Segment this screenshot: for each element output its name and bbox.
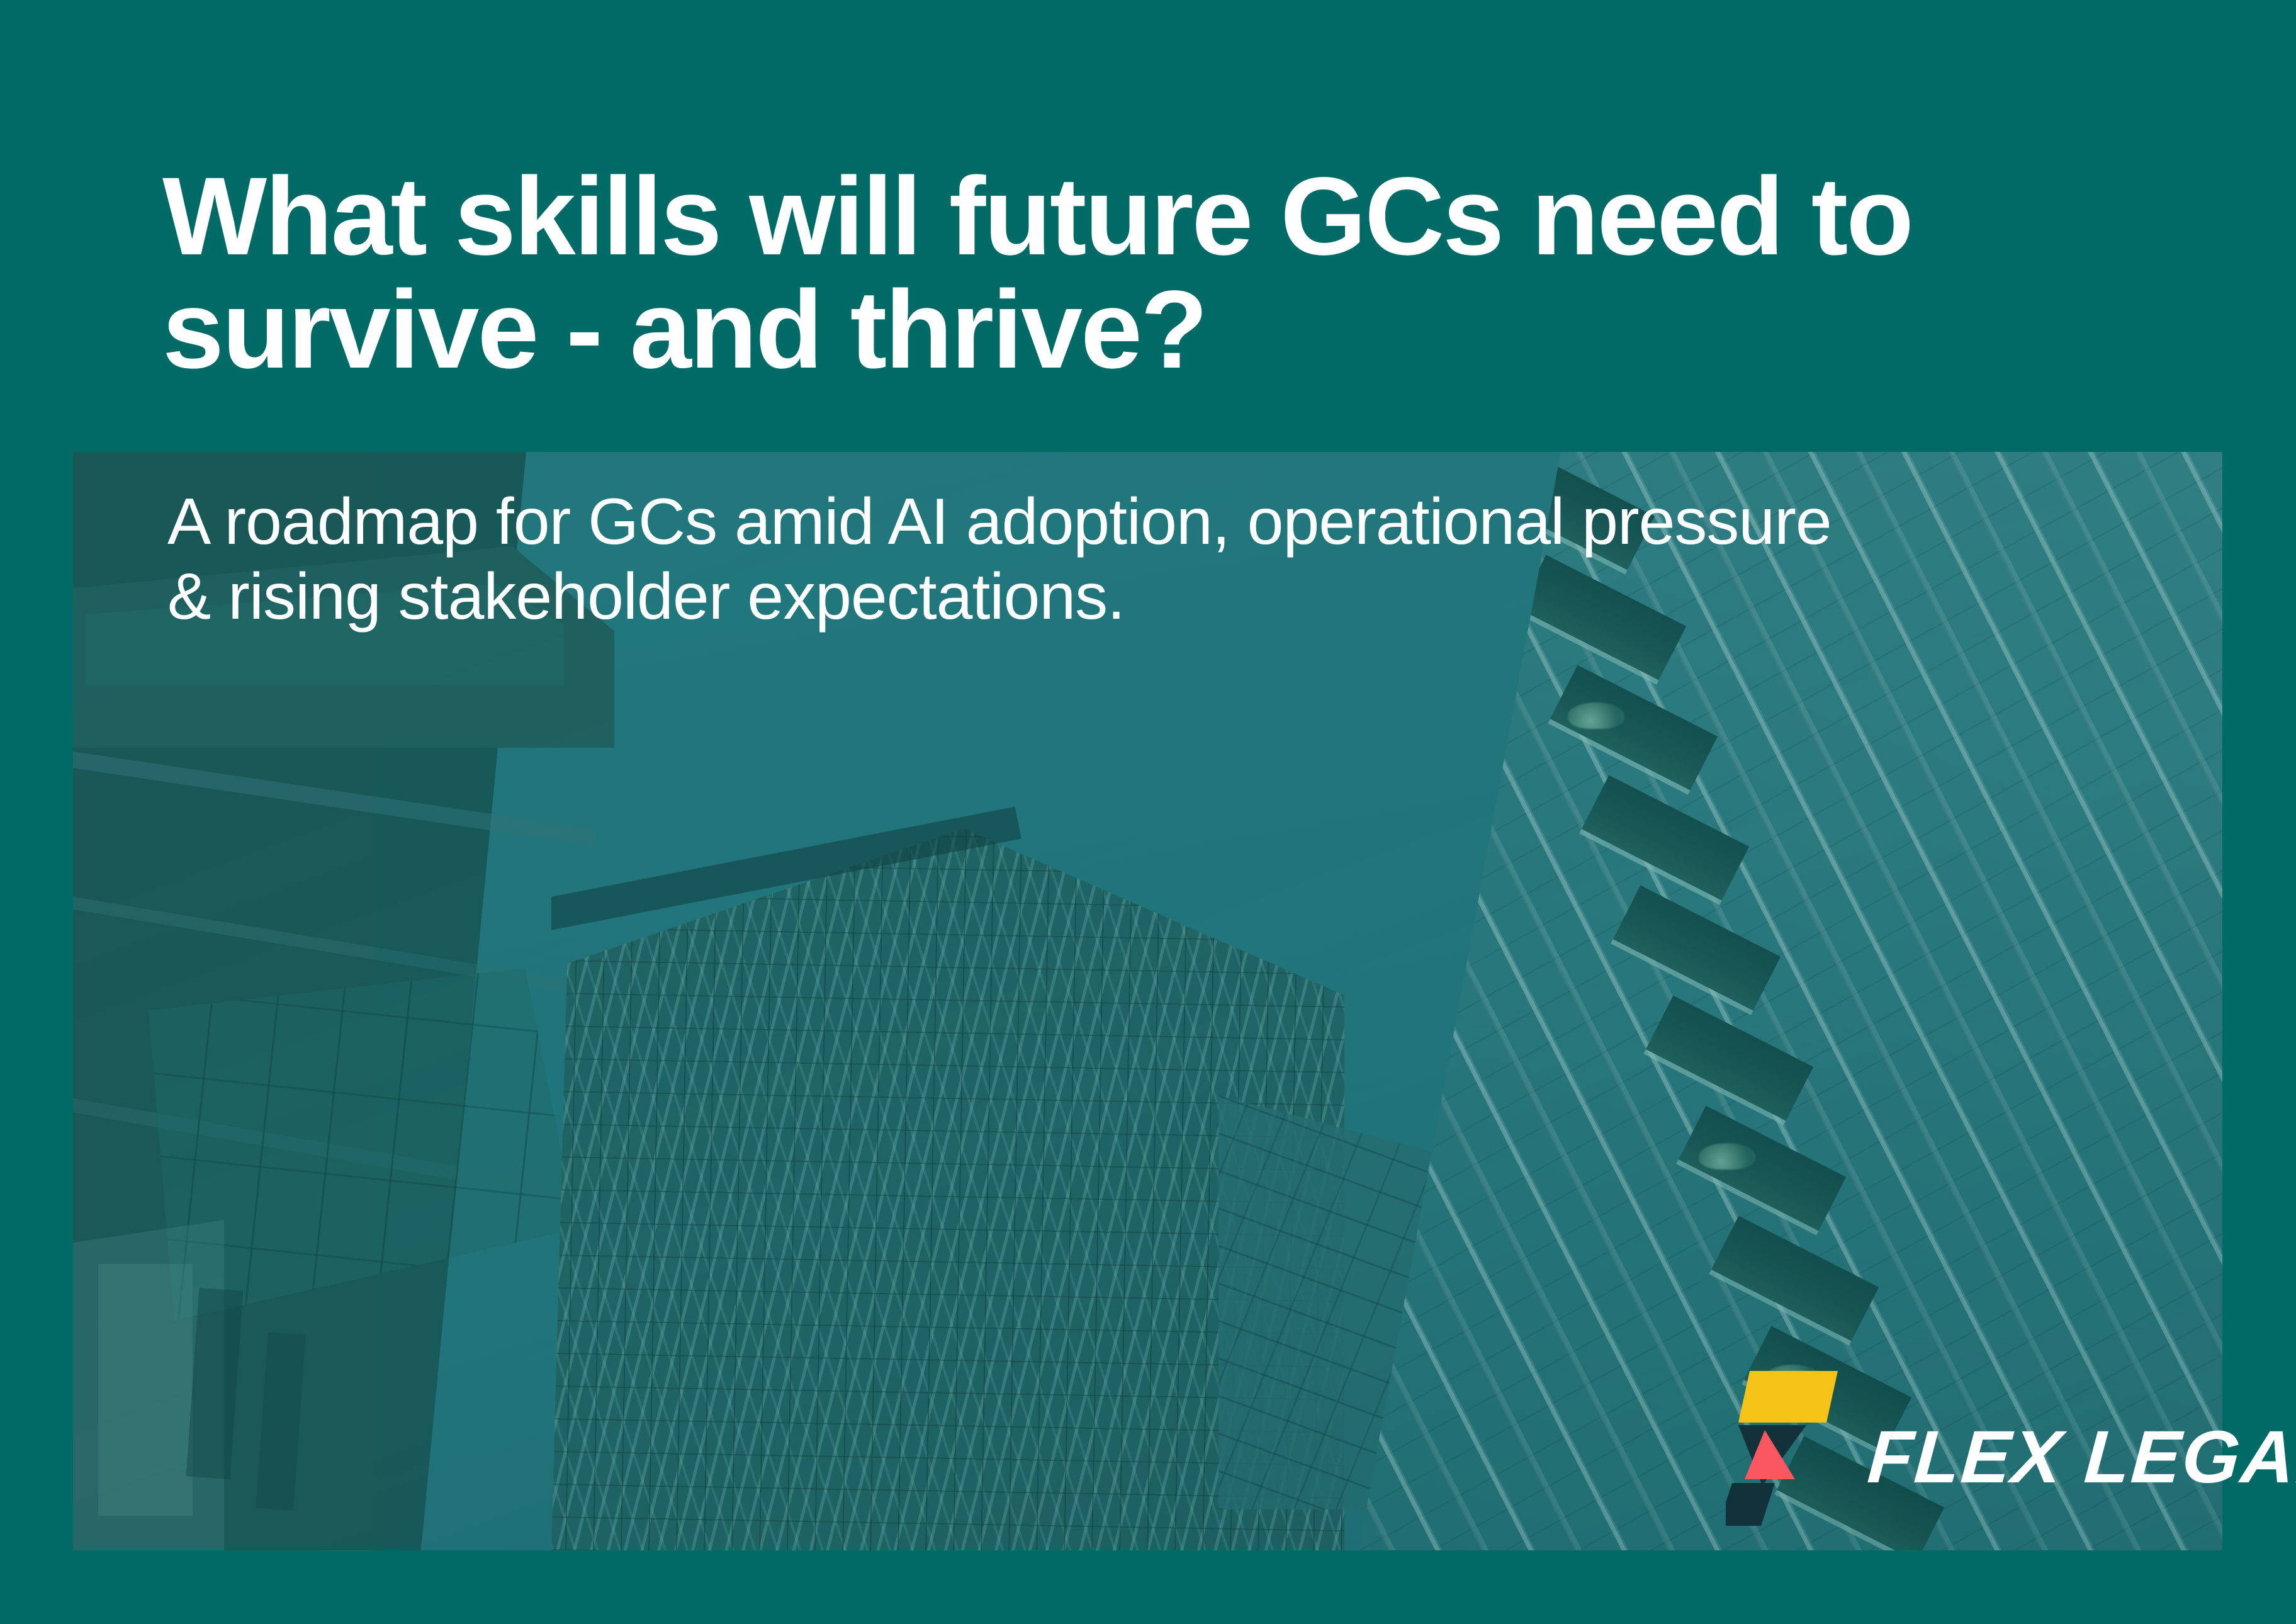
flex-legal-logo: FLEX LEGAL [1726,1365,2166,1528]
flex-legal-mark-icon [1726,1365,1852,1528]
page-title: What skills will future GCs need to surv… [162,161,2176,386]
subtitle-line-2: & rising stakeholder expectations. [167,560,1993,634]
flex-legal-wordmark: FLEX LEGAL [1865,1420,2296,1494]
title-line-2: survive - and thrive? [162,274,2176,387]
page-subtitle: A roadmap for GCs amid AI adoption, oper… [167,485,1993,634]
title-line-1: What skills will future GCs need to [162,161,2176,274]
subtitle-line-1: A roadmap for GCs amid AI adoption, oper… [167,485,1993,560]
